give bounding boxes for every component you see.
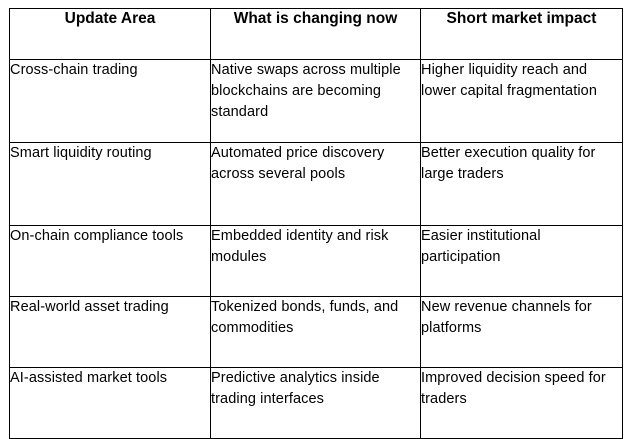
cell-changing-now: Automated price discovery across several… — [211, 143, 421, 226]
cell-market-impact: Better execution quality for large trade… — [421, 143, 623, 226]
page-root: Update Area What is changing now Short m… — [0, 0, 631, 418]
cell-changing-now: Predictive analytics inside trading inte… — [211, 368, 421, 439]
cell-update-area: Cross-chain trading — [10, 60, 211, 143]
cell-text: Better execution quality for large trade… — [421, 143, 622, 185]
cell-market-impact: New revenue channels for platforms — [421, 297, 623, 368]
crypto-market-updates-table: Update Area What is changing now Short m… — [9, 8, 623, 439]
cell-text: On-chain compliance tools — [10, 226, 210, 247]
table-row: Real-world asset trading Tokenized bonds… — [10, 297, 623, 368]
cell-changing-now: Embedded identity and risk modules — [211, 226, 421, 297]
column-header-label: Short market impact — [421, 9, 622, 28]
cell-market-impact: Higher liquidity reach and lower capital… — [421, 60, 623, 143]
cell-text: Improved decision speed for traders — [421, 368, 622, 410]
header-row: Update Area What is changing now Short m… — [10, 9, 623, 60]
cell-update-area: AI-assisted market tools — [10, 368, 211, 439]
cell-text: Embedded identity and risk modules — [211, 226, 420, 268]
cell-changing-now: Native swaps across multiple blockchains… — [211, 60, 421, 143]
table-row: Smart liquidity routing Automated price … — [10, 143, 623, 226]
cell-market-impact: Easier institutional participation — [421, 226, 623, 297]
cell-text: AI-assisted market tools — [10, 368, 210, 389]
cell-text: New revenue channels for platforms — [421, 297, 622, 339]
cell-text: Automated price discovery across several… — [211, 143, 420, 185]
cell-market-impact: Improved decision speed for traders — [421, 368, 623, 439]
table-header: Update Area What is changing now Short m… — [10, 9, 623, 60]
column-header-label: Update Area — [10, 9, 210, 28]
cell-update-area: Smart liquidity routing — [10, 143, 211, 226]
table-row: AI-assisted market tools Predictive anal… — [10, 368, 623, 439]
cell-text: Easier institutional participation — [421, 226, 622, 268]
cell-text: Native swaps across multiple blockchains… — [211, 60, 420, 123]
cell-update-area: Real-world asset trading — [10, 297, 211, 368]
cell-text: Predictive analytics inside trading inte… — [211, 368, 420, 410]
cell-update-area: On-chain compliance tools — [10, 226, 211, 297]
table-row: Cross-chain trading Native swaps across … — [10, 60, 623, 143]
table-row: On-chain compliance tools Embedded ident… — [10, 226, 623, 297]
column-header-changing-now: What is changing now — [211, 9, 421, 60]
cell-text: Higher liquidity reach and lower capital… — [421, 60, 622, 102]
table-container: Update Area What is changing now Short m… — [9, 8, 622, 439]
column-header-market-impact: Short market impact — [421, 9, 623, 60]
cell-text: Smart liquidity routing — [10, 143, 210, 164]
cell-text: Cross-chain trading — [10, 60, 210, 81]
cell-changing-now: Tokenized bonds, funds, and commodities — [211, 297, 421, 368]
column-header-label: What is changing now — [211, 9, 420, 28]
column-header-update-area: Update Area — [10, 9, 211, 60]
table-body: Cross-chain trading Native swaps across … — [10, 60, 623, 439]
cell-text: Tokenized bonds, funds, and commodities — [211, 297, 420, 339]
cell-text: Real-world asset trading — [10, 297, 210, 318]
